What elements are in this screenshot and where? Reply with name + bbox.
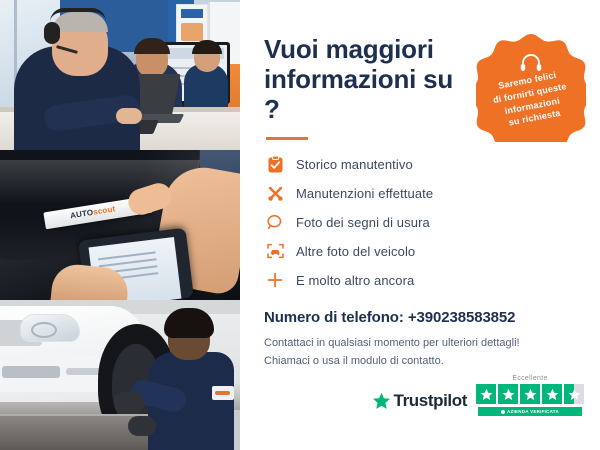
- feature-label: Foto dei segni di usura: [296, 215, 430, 230]
- star-5-half: [564, 384, 584, 404]
- car-headlight: [20, 314, 80, 342]
- operator-hand: [116, 108, 142, 124]
- verified-label: AZIENDA VERIFICATA: [507, 409, 559, 414]
- title-divider: [266, 137, 308, 140]
- advertisement-banner: AUTOscout: [0, 0, 600, 450]
- feature-label: E molto altro ancora: [296, 273, 414, 288]
- star-rating: [476, 384, 584, 404]
- verified-company-badge: AZIENDA VERIFICATA: [478, 407, 582, 416]
- phone-line: Numero di telefono: +390238583852: [264, 309, 578, 326]
- tools-cross-icon: [264, 183, 286, 203]
- feature-list: Storico manutentivo Manutenzi: [264, 154, 578, 290]
- phone-label: Numero di telefono:: [264, 309, 408, 326]
- promo-badge: Saremo felici di fornirti queste informa…: [476, 32, 586, 142]
- photo-wheel-check: [0, 300, 240, 450]
- mechanic-glove-upper: [114, 392, 144, 414]
- star-3: [520, 384, 540, 404]
- page-title: Vuoi maggiori informazioni su ?: [264, 34, 464, 124]
- contact-note-line-1: Contattaci in qualsiasi momento per ulte…: [264, 337, 520, 349]
- star-4: [542, 384, 562, 404]
- feature-label: Storico manutentivo: [296, 157, 413, 172]
- mechanic-glove-lower: [128, 416, 156, 436]
- star-2: [498, 384, 518, 404]
- feature-label: Altre foto del veicolo: [296, 244, 415, 259]
- list-item: E molto altro ancora: [264, 270, 578, 290]
- list-item: Altre foto del veicolo: [264, 241, 578, 261]
- contact-note: Contattaci in qualsiasi momento per ulte…: [264, 335, 578, 371]
- phone-number[interactable]: +390238583852: [408, 309, 516, 326]
- mechanic-hair: [164, 308, 214, 338]
- list-item: Foto dei segni di usura: [264, 212, 578, 232]
- trustpilot-star-icon: [372, 392, 391, 410]
- plus-icon: [264, 270, 286, 290]
- magnifier-icon: [264, 212, 286, 232]
- verified-dot-icon: [501, 410, 505, 414]
- headset-band: [50, 8, 106, 22]
- photo-column: AUTOscout: [0, 0, 240, 450]
- contact-note-line-2: Chiamaci o usa il modulo di contatto.: [264, 355, 444, 367]
- photo-call-center: [0, 0, 240, 150]
- list-item: Storico manutentivo: [264, 154, 578, 174]
- content-panel: Vuoi maggiori informazioni su ? Storico …: [240, 0, 600, 450]
- uniform-logo-patch: [212, 386, 234, 400]
- feature-label: Manutenzioni effettuate: [296, 186, 433, 201]
- bumper-vent: [2, 366, 60, 378]
- trustpilot-rating: Eccellente: [476, 375, 584, 416]
- headset-earcup: [44, 22, 60, 44]
- trustpilot-logo: Trustpilot: [372, 391, 467, 411]
- trustpilot-widget[interactable]: Trustpilot Eccellente: [372, 375, 584, 416]
- clipboard-check-icon: [264, 154, 286, 174]
- car-frame-icon: [264, 241, 286, 261]
- star-1: [476, 384, 496, 404]
- headline-line-2: informazioni su ?: [264, 64, 453, 124]
- headline-line-1: Vuoi maggiori: [264, 34, 434, 64]
- trustpilot-wordmark: Trustpilot: [394, 391, 467, 411]
- photo-bumper-inspection: AUTOscout: [0, 150, 240, 300]
- rating-label: Eccellente: [512, 375, 547, 382]
- list-item: Manutenzioni effettuate: [264, 183, 578, 203]
